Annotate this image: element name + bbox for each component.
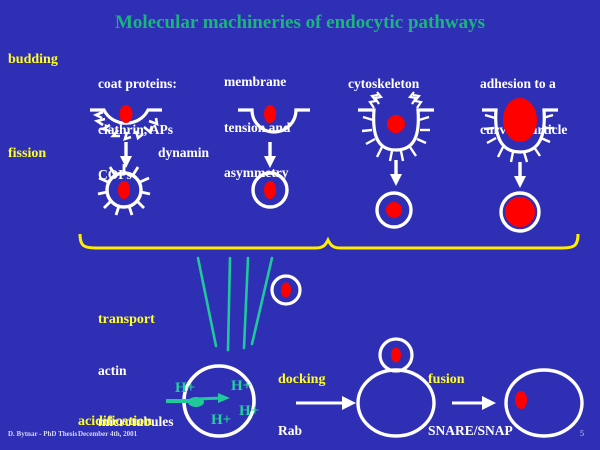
arrow-budding-to-fission-2: [264, 142, 276, 168]
cargo-particle: [264, 105, 276, 123]
cargo-particle: [515, 391, 527, 409]
arrow-budding-to-fission-3: [390, 160, 402, 186]
adhesion-pit: [482, 98, 558, 162]
cargo-particle: [281, 283, 291, 298]
cargo-particle: [264, 181, 276, 199]
actin-filament: [370, 92, 421, 108]
adhesion-vesicle: [501, 193, 539, 231]
footer-page-number: 5: [580, 430, 584, 439]
clathrin-coated-vesicle: [98, 164, 150, 215]
label-transport-line: actin: [98, 363, 174, 378]
cargo-particle: [118, 181, 130, 199]
cargo-particle: [503, 98, 537, 142]
slide-canvas: Molecular machineries of endocytic pathw…: [0, 0, 600, 450]
membrane-tension-pit: [238, 105, 310, 132]
cargo-particle: [391, 348, 401, 363]
fused-endosome: [506, 370, 582, 436]
cargo-particle: [386, 202, 402, 218]
pump-arrow-head: [218, 393, 230, 403]
label-fusion-line: SNARE/SNAP: [428, 423, 513, 438]
label-acidification: acidification vacuolar H+-ATPase: [78, 378, 152, 450]
label-docking-line: Rab: [278, 423, 343, 438]
label-dynamin: dynamin: [158, 145, 209, 160]
proton-label: H+: [239, 403, 259, 420]
arrow-budding-to-fission-1: [120, 142, 132, 168]
label-acidification-title: acidification: [78, 414, 152, 430]
cargo-particle: [505, 197, 535, 227]
cytoskeleton-pit: [358, 92, 434, 161]
label-fusion-title: fusion: [428, 372, 513, 388]
target-endosome: [358, 370, 434, 436]
clathrin-coated-pit: [90, 105, 162, 139]
footer-author: D. Bytnar - PhD Thesis: [8, 431, 77, 439]
cytoskeleton-vesicle: [377, 193, 411, 227]
transport-vesicle: [272, 276, 300, 304]
label-transport-title: transport: [98, 312, 174, 328]
proton-label: H+: [175, 380, 195, 397]
proton-label: H+: [231, 378, 251, 395]
cargo-particle: [387, 115, 405, 133]
footer-date: December 4th, 2001: [78, 431, 137, 439]
arrow-budding-to-fission-4: [514, 162, 526, 188]
uncoated-vesicle: [253, 173, 287, 207]
microtubule-filaments: [198, 258, 272, 350]
grouping-brace: [80, 234, 578, 248]
cargo-particle: [120, 105, 133, 123]
label-docking: docking Rab PI 3-kinase: [278, 336, 343, 450]
label-docking-title: docking: [278, 372, 343, 388]
label-fusion: fusion SNARE/SNAP membrane: [428, 336, 513, 450]
proton-label: H+: [211, 412, 231, 429]
docking-complex: [358, 339, 434, 436]
